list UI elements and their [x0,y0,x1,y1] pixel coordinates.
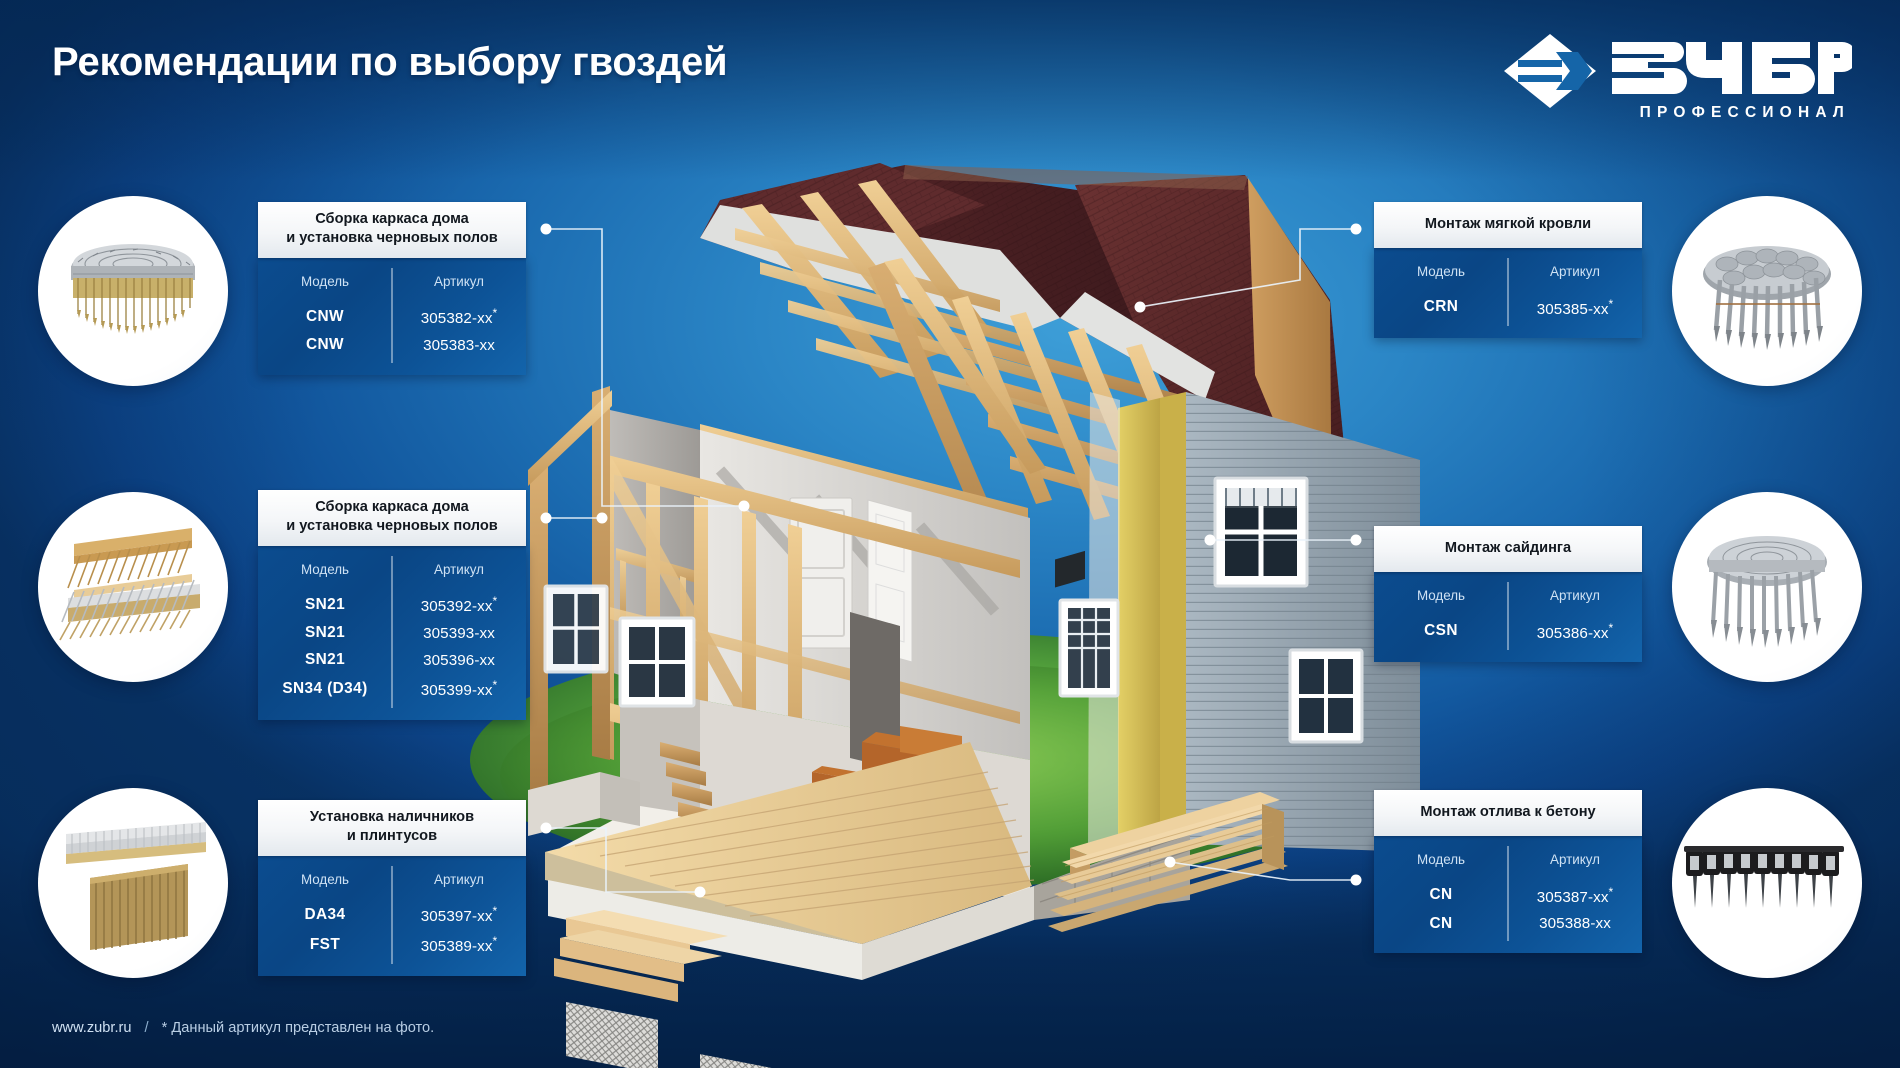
footnote-star: * [493,306,498,320]
article-text: 305387-хх [1537,889,1609,906]
cell-article: 305382-хх* [392,302,526,332]
cell-model: DA34 [258,900,392,930]
card-body: Модель Артикул CRN 305385-хх* [1374,248,1642,338]
cell-model: CSN [1374,616,1508,646]
th-model: Модель [1374,586,1508,616]
card-title-line2: и установка черновых полов [268,517,516,536]
table-header-row: Модель Артикул [1374,850,1642,880]
cell-model: SN21 [258,590,392,620]
cell-article: 305396-хх [392,647,526,674]
spec-table: Модель Артикул SN21 305392-хх* SN21 3053… [258,560,526,704]
footnote-star: * [493,904,498,918]
card-title-line1: Установка наличников [268,808,516,827]
cell-model: SN21 [258,647,392,674]
table-row: CN 305387-хх* [1374,880,1642,910]
footnote-star: * [493,934,498,948]
cell-model: CN [1374,910,1508,937]
table-row: SN21 305392-хх* [258,590,526,620]
table-row: SN21 305396-хх [258,647,526,674]
footnote-star: * [1609,621,1614,635]
cell-model: SN21 [258,620,392,647]
card-title: Сборка каркаса дома и установка черновых… [258,490,526,546]
footnote-star: * [1609,297,1614,311]
card-title: Сборка каркаса дома и установка черновых… [258,202,526,258]
article-text: 305386-хх [1537,625,1609,642]
table-row: CNW 305382-хх* [258,302,526,332]
card-title-line1: Монтаж мягкой кровли [1384,215,1632,234]
table-header-row: Модель Артикул [1374,586,1642,616]
card-title-line2: и установка черновых полов [268,229,516,248]
footnote-star: * [1609,885,1614,899]
table-row: SN34 (D34) 305399-хх* [258,674,526,704]
product-image-concrete-pins [1672,788,1862,978]
th-model: Модель [258,870,392,900]
cell-model: CN [1374,880,1508,910]
card-title: Монтаж сайдинга [1374,526,1642,572]
zubr-logo [1500,30,1852,112]
article-text: 305399-хх [421,682,493,699]
card-title-line1: Сборка каркаса дома [268,210,516,229]
footer-separator: / [136,1020,158,1036]
cell-article: 305387-хх* [1508,880,1642,910]
table-header-row: Модель Артикул [258,272,526,302]
logo-subtitle: ПРОФЕССИОНАЛ [1640,104,1850,122]
th-model: Модель [258,560,392,590]
footer: www.zubr.ru / * Данный артикул представл… [52,1020,434,1036]
card-title: Установка наличников и плинтусов [258,800,526,856]
zubr-logo-mark [1500,30,1852,112]
cell-article: 305388-хх [1508,910,1642,937]
th-model: Модель [258,272,392,302]
card-frame-assembly-sn: Сборка каркаса дома и установка черновых… [258,490,526,720]
footer-url[interactable]: www.zubr.ru [52,1020,131,1036]
card-trim-baseboard: Установка наличников и плинтусов Модель … [258,800,526,976]
cell-article: 305389-хх* [392,930,526,960]
article-text: 305382-хх [421,310,493,327]
card-frame-assembly-cnw: Сборка каркаса дома и установка черновых… [258,202,526,375]
th-article: Артикул [1508,262,1642,292]
cell-article: 305397-хх* [392,900,526,930]
table-header-row: Модель Артикул [258,870,526,900]
card-title-line1: Сборка каркаса дома [268,498,516,517]
card-siding-install: Монтаж сайдинга Модель Артикул CSN 30538… [1374,526,1642,662]
th-article: Артикул [1508,850,1642,880]
table-row: FST 305389-хх* [258,930,526,960]
card-concrete-flashing: Монтаж отлива к бетону Модель Артикул CN… [1374,790,1642,953]
page-title: Рекомендации по выбору гвоздей [52,40,727,85]
card-body: Модель Артикул SN21 305392-хх* SN21 3053… [258,546,526,720]
card-body: Модель Артикул CNW 305382-хх* CNW 305383… [258,258,526,375]
footnote-star: * [493,678,498,692]
cell-article: 305393-хх [392,620,526,647]
spec-table: Модель Артикул CSN 305386-хх* [1374,586,1642,646]
card-title: Монтаж отлива к бетону [1374,790,1642,836]
card-title: Монтаж мягкой кровли [1374,202,1642,248]
cell-model: FST [258,930,392,960]
table-header-row: Модель Артикул [258,560,526,590]
spec-table: Модель Артикул CNW 305382-хх* CNW 305383… [258,272,526,359]
cell-article: 305385-хх* [1508,292,1642,322]
product-image-siding-coil-nails [1672,492,1862,682]
card-title-line2: и плинтусов [268,827,516,846]
table-row: CNW 305383-хх [258,332,526,359]
article-text: 305392-хх [421,598,493,615]
cell-model: CNW [258,332,392,359]
product-image-brad-nails [38,788,228,978]
table-row: DA34 305397-хх* [258,900,526,930]
cell-model: CNW [258,302,392,332]
spec-table: Модель Артикул CN 305387-хх* CN 305388-х… [1374,850,1642,937]
card-soft-roofing: Монтаж мягкой кровли Модель Артикул CRN … [1374,202,1642,338]
th-article: Артикул [392,870,526,900]
product-image-roofing-coil-nails [1672,196,1862,386]
cell-article: 305386-хх* [1508,616,1642,646]
table-row: CSN 305386-хх* [1374,616,1642,646]
article-text: 305397-хх [421,908,493,925]
th-article: Артикул [392,560,526,590]
product-image-strip-nails [38,492,228,682]
th-article: Артикул [1508,586,1642,616]
th-article: Артикул [392,272,526,302]
table-row: CN 305388-хх [1374,910,1642,937]
table-header-row: Модель Артикул [1374,262,1642,292]
cell-article: 305392-хх* [392,590,526,620]
card-title-line1: Монтаж сайдинга [1384,539,1632,558]
table-row: SN21 305393-хх [258,620,526,647]
footnote-star: * [493,594,498,608]
card-body: Модель Артикул CN 305387-хх* CN 305388-х… [1374,836,1642,953]
card-body: Модель Артикул DA34 305397-хх* FST 30538… [258,856,526,976]
card-title-line1: Монтаж отлива к бетону [1384,803,1632,822]
card-body: Модель Артикул CSN 305386-хх* [1374,572,1642,662]
article-text: 305385-хх [1537,301,1609,318]
cell-model: CRN [1374,292,1508,322]
footer-note: * Данный артикул представлен на фото. [162,1020,435,1036]
infographic-canvas: Рекомендации по выбору гвоздей ПРОФЕССИО… [0,0,1900,1068]
spec-table: Модель Артикул DA34 305397-хх* FST 30538… [258,870,526,960]
table-row: CRN 305385-хх* [1374,292,1642,322]
spec-table: Модель Артикул CRN 305385-хх* [1374,262,1642,322]
cell-model: SN34 (D34) [258,674,392,704]
th-model: Модель [1374,850,1508,880]
cell-article: 305383-хх [392,332,526,359]
product-image-coil-nails [38,196,228,386]
cell-article: 305399-хх* [392,674,526,704]
th-model: Модель [1374,262,1508,292]
article-text: 305389-хх [421,938,493,955]
